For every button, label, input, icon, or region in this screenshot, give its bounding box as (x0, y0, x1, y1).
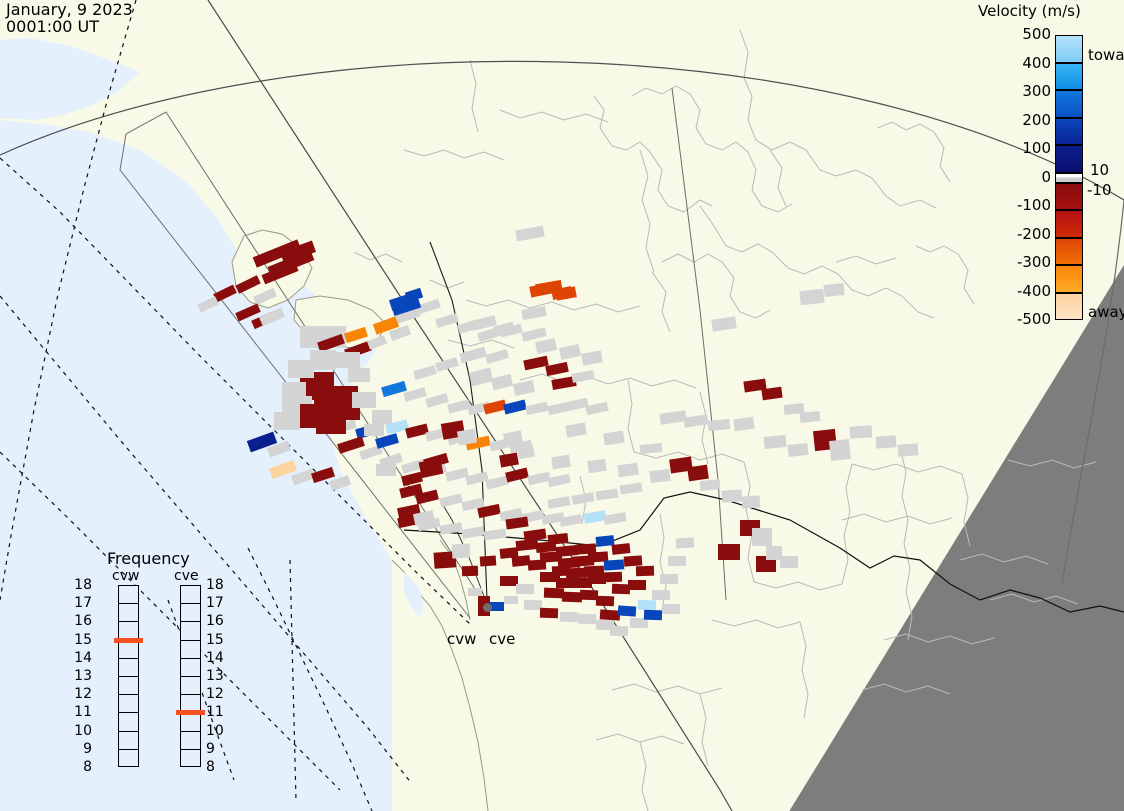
colorbar-away-label: away (1088, 305, 1124, 320)
velocity-cell (595, 489, 618, 501)
velocity-cell (787, 443, 808, 457)
frequency-scale-segment (181, 586, 200, 604)
velocity-cell (439, 522, 462, 535)
colorbar-band (1055, 63, 1083, 91)
colorbar-tick-label: -400 (995, 284, 1051, 299)
frequency-tick-16: 16 (206, 614, 230, 628)
velocity-cell (439, 493, 463, 507)
frequency-tick-11: 11 (206, 705, 230, 719)
velocity-cell (676, 537, 695, 548)
velocity-cell (668, 556, 686, 567)
frequency-tick-15: 15 (206, 633, 230, 647)
frequency-tick-18: 18 (68, 578, 92, 592)
velocity-cell (800, 411, 821, 423)
velocity-cell (571, 492, 594, 505)
velocity-cell (636, 566, 654, 577)
velocity-cell (364, 424, 384, 436)
velocity-cell (612, 543, 631, 555)
velocity-cell (336, 352, 360, 368)
velocity-cell (652, 590, 670, 600)
colorbar-band (1055, 210, 1083, 238)
colorbar-band (1055, 238, 1083, 266)
velocity-cell (344, 327, 368, 343)
frequency-tick-17: 17 (68, 596, 92, 610)
velocity-cell (551, 455, 570, 469)
velocity-cell (435, 313, 459, 328)
frequency-scale-box-cvw (118, 585, 139, 767)
velocity-cell (603, 431, 624, 446)
frequency-scale-segment (181, 641, 200, 659)
velocity-cell (780, 556, 798, 568)
velocity-cell (610, 626, 628, 637)
velocity-cell (585, 402, 608, 415)
colorbar-tick-label: 0 (995, 170, 1051, 185)
colorbar-toward-label: toward (1088, 48, 1124, 63)
frequency-scale-segment (181, 713, 200, 731)
velocity-cell (376, 464, 396, 476)
velocity-cell (604, 572, 622, 583)
velocity-cell (545, 362, 569, 376)
colorbar-tick-label: 100 (995, 141, 1051, 156)
velocity-cell (517, 445, 535, 460)
title-time: 0001:00 UT (6, 17, 99, 36)
frequency-tick-12: 12 (68, 687, 92, 701)
velocity-cell (515, 226, 544, 242)
velocity-cell (483, 529, 506, 541)
colorbar-band (1055, 35, 1083, 63)
velocity-cell (640, 443, 663, 454)
frequency-scale-box-cve (180, 585, 201, 767)
colorbar-tick-label: 400 (995, 56, 1051, 71)
velocity-cell (565, 422, 587, 437)
frequency-tick-16: 16 (68, 614, 92, 628)
velocity-cell (435, 357, 459, 372)
velocity-cell (480, 555, 497, 566)
colorbar-tick-label: 200 (995, 113, 1051, 128)
frequency-scale-segment (181, 732, 200, 750)
velocity-cell (259, 308, 285, 327)
velocity-data-cells (0, 0, 1124, 811)
frequency-scale-segment (119, 659, 138, 677)
frequency-tick-9: 9 (68, 742, 92, 756)
velocity-cell (491, 374, 513, 390)
frequency-scale-segment (119, 750, 138, 768)
velocity-cell (619, 483, 642, 495)
frequency-tick-8: 8 (68, 760, 92, 774)
velocity-cell (700, 479, 721, 491)
velocity-cell (419, 458, 444, 478)
velocity-cell (662, 604, 680, 614)
velocity-cell (461, 526, 484, 539)
colorbar-tick-label: -500 (995, 312, 1051, 327)
velocity-cell (485, 475, 509, 489)
velocity-cell (462, 566, 478, 577)
velocity-cell (367, 335, 387, 350)
velocity-cell (500, 547, 519, 559)
velocity-cell (571, 370, 594, 383)
velocity-cell (197, 296, 219, 313)
velocity-cell (282, 382, 306, 396)
velocity-cell (540, 608, 558, 619)
frequency-scale-segment (119, 586, 138, 604)
velocity-cell (547, 474, 570, 487)
velocity-cell (733, 417, 754, 432)
frequency-legend-title: Frequency (107, 549, 190, 568)
velocity-cell (288, 360, 314, 378)
colorbar-tick-label: 500 (995, 27, 1051, 42)
frequency-scale-segment (119, 695, 138, 713)
velocity-cell (617, 463, 638, 478)
velocity-cell (504, 596, 518, 604)
colorbar-tick-label: -100 (995, 198, 1051, 213)
frequency-tick-11: 11 (68, 705, 92, 719)
velocity-cell (348, 368, 370, 382)
velocity-cell (638, 600, 656, 611)
velocity-cell (469, 368, 494, 387)
frequency-scale-segment (181, 750, 200, 768)
frequency-scale-segment (119, 604, 138, 622)
velocity-cell (898, 443, 919, 456)
frequency-tick-9: 9 (206, 742, 230, 756)
velocity-cell (604, 559, 625, 570)
velocity-cell (683, 414, 708, 427)
velocity-cell (722, 489, 743, 502)
frequency-tick-10: 10 (68, 724, 92, 738)
velocity-cell (628, 580, 646, 590)
frequency-scale-segment (119, 713, 138, 731)
frequency-scale-segment (181, 659, 200, 677)
colorbar-band (1055, 265, 1083, 293)
colorbar-title: Velocity (m/s) (978, 2, 1081, 20)
colorbar-band (1055, 293, 1083, 321)
velocity-cell (624, 555, 643, 566)
velocity-cell (235, 275, 261, 294)
velocity-cell (596, 596, 614, 607)
velocity-cell (644, 610, 662, 621)
colorbar-band (1055, 183, 1083, 211)
velocity-cell (413, 365, 437, 380)
velocity-cell (603, 512, 626, 525)
velocity-cell (742, 495, 761, 508)
velocity-cell (425, 393, 449, 408)
velocity-cell (660, 574, 678, 584)
frequency-tick-8: 8 (206, 760, 230, 774)
colorbar-tick-label: -300 (995, 255, 1051, 270)
frequency-tick-10: 10 (206, 724, 230, 738)
velocity-cell (711, 316, 736, 331)
velocity-cell (876, 435, 897, 448)
velocity-cell (850, 425, 873, 439)
colorbar-band (1055, 90, 1083, 118)
frequency-column-label-cve: cve (174, 568, 199, 584)
frequency-tick-13: 13 (68, 669, 92, 683)
velocity-cell (505, 467, 529, 482)
velocity-cell (548, 533, 569, 545)
velocity-cell (499, 453, 519, 468)
frequency-tick-15: 15 (68, 633, 92, 647)
velocity-cell (372, 410, 392, 424)
velocity-cell (587, 459, 606, 473)
velocity-cell (547, 496, 570, 509)
velocity-colorbar (1055, 35, 1083, 320)
frequency-column-label-cvw: cvw (112, 568, 139, 584)
colorbar-inner-high-label: 10 (1090, 163, 1109, 178)
velocity-cell (829, 439, 851, 461)
velocity-cell (516, 584, 534, 594)
colorbar-inner-low-label: -10 (1087, 183, 1112, 198)
velocity-cell (459, 347, 487, 364)
frequency-tick-12: 12 (206, 687, 230, 701)
frequency-scale-segment (181, 677, 200, 695)
velocity-cell (521, 306, 546, 320)
velocity-cell (316, 418, 346, 434)
velocity-cell (823, 283, 844, 297)
velocity-cell (505, 517, 528, 530)
frequency-tick-13: 13 (206, 669, 230, 683)
radar-site-dot (483, 603, 492, 612)
velocity-cell (490, 602, 504, 611)
velocity-cell (761, 387, 782, 401)
frequency-scale-segment (119, 677, 138, 695)
velocity-cell (708, 419, 731, 431)
radar-map-figure: January, 9 2023 0001:00 UT cvw cve Veloc… (0, 0, 1124, 811)
velocity-cell (485, 349, 509, 364)
velocity-cell (513, 380, 535, 396)
velocity-cell (352, 392, 376, 408)
velocity-cell (452, 543, 471, 558)
colorbar-tick-label: 300 (995, 84, 1051, 99)
velocity-cell (763, 435, 786, 449)
velocity-cell (560, 612, 578, 623)
frequency-tick-14: 14 (206, 651, 230, 665)
velocity-cell (752, 528, 772, 546)
site-label-cve: cve (489, 630, 515, 648)
velocity-cell (329, 475, 351, 491)
page-title: January, 9 2023 0001:00 UT (6, 2, 133, 36)
frequency-scale-segment (119, 732, 138, 750)
colorbar-band (1055, 145, 1083, 173)
frequency-tick-14: 14 (68, 651, 92, 665)
site-label-cvw: cvw (447, 630, 476, 648)
colorbar-band (1055, 118, 1083, 146)
velocity-cell (718, 544, 740, 560)
velocity-cell (559, 344, 581, 360)
velocity-cell (649, 469, 670, 483)
frequency-tick-18: 18 (206, 578, 230, 592)
frequency-scale-segment (181, 604, 200, 622)
frequency-tick-17: 17 (206, 596, 230, 610)
frequency-marker-cvw (114, 638, 143, 643)
velocity-cell (578, 614, 596, 625)
frequency-scale-segment (119, 641, 138, 659)
velocity-cell (535, 338, 557, 354)
colorbar-band (1055, 173, 1083, 183)
velocity-cell (687, 465, 709, 482)
velocity-cell (468, 588, 482, 596)
velocity-cell (274, 412, 300, 430)
velocity-cell (581, 350, 603, 365)
velocity-cell (525, 402, 548, 415)
velocity-cell (618, 605, 637, 616)
velocity-cell (799, 289, 824, 305)
frequency-scale-segment (181, 622, 200, 640)
frequency-marker-cve (176, 710, 205, 715)
colorbar-tick-label: -200 (995, 227, 1051, 242)
velocity-cell (555, 286, 577, 300)
velocity-cell (503, 399, 527, 414)
